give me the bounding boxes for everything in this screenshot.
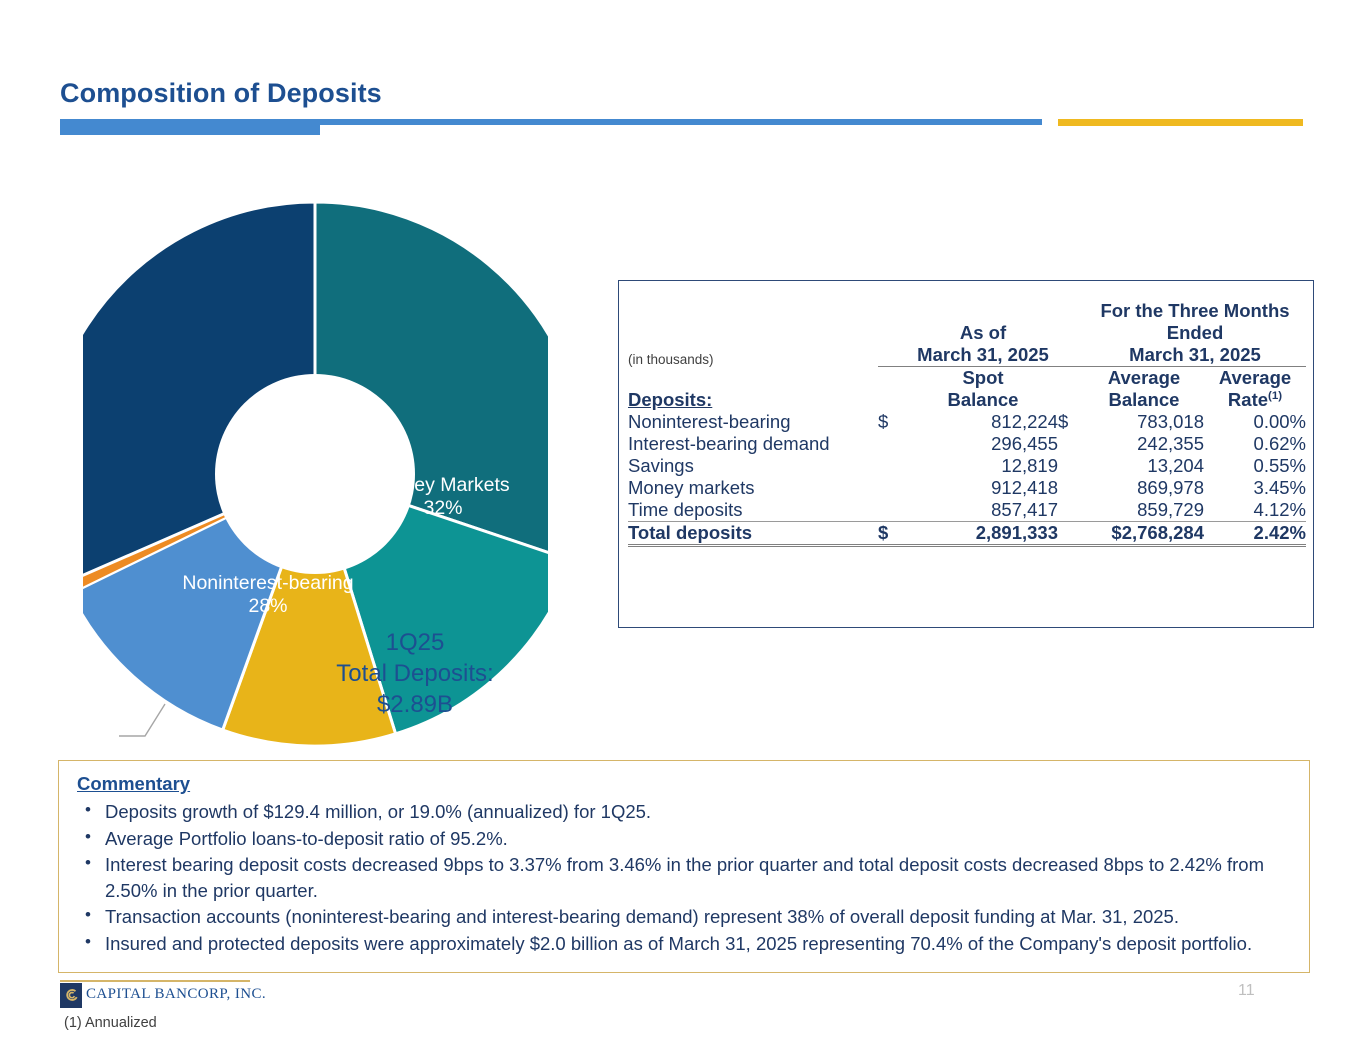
row-average-rate: 0.00% <box>1204 411 1306 433</box>
total-average-rate: 2.42% <box>1204 522 1306 546</box>
title-rule-blue-thick <box>60 121 320 135</box>
row-currency <box>878 455 908 477</box>
row-label: Time deposits <box>628 499 878 522</box>
row-label: Money markets <box>628 477 878 499</box>
row-currency <box>878 499 908 522</box>
row-average-rate: 3.45% <box>1204 477 1306 499</box>
row-average-balance: 859,729 <box>1084 499 1204 522</box>
table-header-columns-row: Deposits: SpotBalance AverageBalance Ave… <box>628 367 1306 412</box>
row-label: Noninterest-bearing <box>628 411 878 433</box>
deposits-table: As of For the Three Months Ended (in tho… <box>628 300 1306 547</box>
table-header-group-row: As of For the Three Months Ended <box>628 300 1306 344</box>
row-label: Interest-bearing demand <box>628 433 878 455</box>
logo-rule <box>60 980 250 982</box>
row-average-balance: 783,018 <box>1084 411 1204 433</box>
header-date-left: March 31, 2025 <box>908 344 1058 367</box>
header-as-of: As of <box>908 300 1058 344</box>
row-average-balance: 13,204 <box>1084 455 1204 477</box>
list-item: Average Portfolio loans-to-deposit ratio… <box>77 826 1291 852</box>
spacer-cell <box>628 300 878 344</box>
commentary-list: Deposits growth of $129.4 million, or 19… <box>77 799 1291 956</box>
row-currency-2 <box>1058 455 1084 477</box>
header-spot-balance: SpotBalance <box>908 367 1058 412</box>
row-average-balance: 869,978 <box>1084 477 1204 499</box>
total-label: Total deposits <box>628 522 878 546</box>
commentary-box: Commentary Deposits growth of $129.4 mil… <box>58 760 1310 973</box>
row-average-balance: 242,355 <box>1084 433 1204 455</box>
header-three-months-ended: For the Three Months Ended <box>1084 300 1306 344</box>
row-currency-2 <box>1058 499 1084 522</box>
row-average-rate: 0.55% <box>1204 455 1306 477</box>
list-item: Interest bearing deposit costs decreased… <box>77 852 1291 903</box>
table-row: Time deposits 857,417 859,729 4.12% <box>628 499 1306 522</box>
commentary-title: Commentary <box>77 773 1291 795</box>
deposits-donut-chart: Money Markets 32% Noninterest-bearing 28… <box>83 202 548 747</box>
table-row: Interest-bearing demand 296,455 242,355 … <box>628 433 1306 455</box>
row-currency-2 <box>1058 477 1084 499</box>
row-average-rate: 0.62% <box>1204 433 1306 455</box>
table-row: Noninterest-bearing $ 812,224 $ 783,018 … <box>628 411 1306 433</box>
list-item: Insured and protected deposits were appr… <box>77 931 1291 957</box>
header-date-right: March 31, 2025 <box>1084 344 1306 367</box>
row-spot-balance: 296,455 <box>908 433 1058 455</box>
table-row: Money markets 912,418 869,978 3.45% <box>628 477 1306 499</box>
row-spot-balance: 912,418 <box>908 477 1058 499</box>
row-currency-2: $ <box>1058 411 1084 433</box>
total-spot-balance: 2,891,333 <box>908 522 1058 546</box>
donut-center-text: 1Q25 Total Deposits: $2.89B <box>315 627 515 721</box>
units-note: (in thousands) <box>628 344 878 367</box>
total-currency: $ <box>878 522 908 546</box>
footnote: (1) Annualized <box>64 1015 157 1031</box>
page-number: 11 <box>1238 982 1255 1000</box>
table-row: Savings 12,819 13,204 0.55% <box>628 455 1306 477</box>
row-spot-balance: 812,224 <box>908 411 1058 433</box>
row-label: Savings <box>628 455 878 477</box>
row-spot-balance: 857,417 <box>908 499 1058 522</box>
title-rule-gold <box>1058 119 1303 126</box>
page-title: Composition of Deposits <box>60 78 382 109</box>
company-logo: CAPITAL BANCORP, INC. <box>60 980 250 1008</box>
table-total-row: Total deposits $ 2,891,333 $2,768,284 2.… <box>628 522 1306 546</box>
company-name: CAPITAL BANCORP, INC. <box>86 986 266 1003</box>
header-average-rate: AverageRate(1) <box>1204 367 1306 412</box>
table-header-date-row: (in thousands) March 31, 2025 March 31, … <box>628 344 1306 367</box>
donut-hole <box>215 374 415 574</box>
total-currency-2 <box>1058 522 1084 546</box>
row-currency <box>878 477 908 499</box>
list-item: Deposits growth of $129.4 million, or 19… <box>77 799 1291 825</box>
savings-leader-line <box>119 704 165 736</box>
row-spot-balance: 12,819 <box>908 455 1058 477</box>
row-currency <box>878 433 908 455</box>
header-average-balance: AverageBalance <box>1084 367 1204 412</box>
row-currency-2 <box>1058 433 1084 455</box>
row-currency: $ <box>878 411 908 433</box>
total-average-balance: $2,768,284 <box>1084 522 1204 546</box>
row-average-rate: 4.12% <box>1204 499 1306 522</box>
spiral-icon <box>60 983 82 1008</box>
header-deposits-section: Deposits: <box>628 367 878 412</box>
list-item: Transaction accounts (noninterest-bearin… <box>77 904 1291 930</box>
